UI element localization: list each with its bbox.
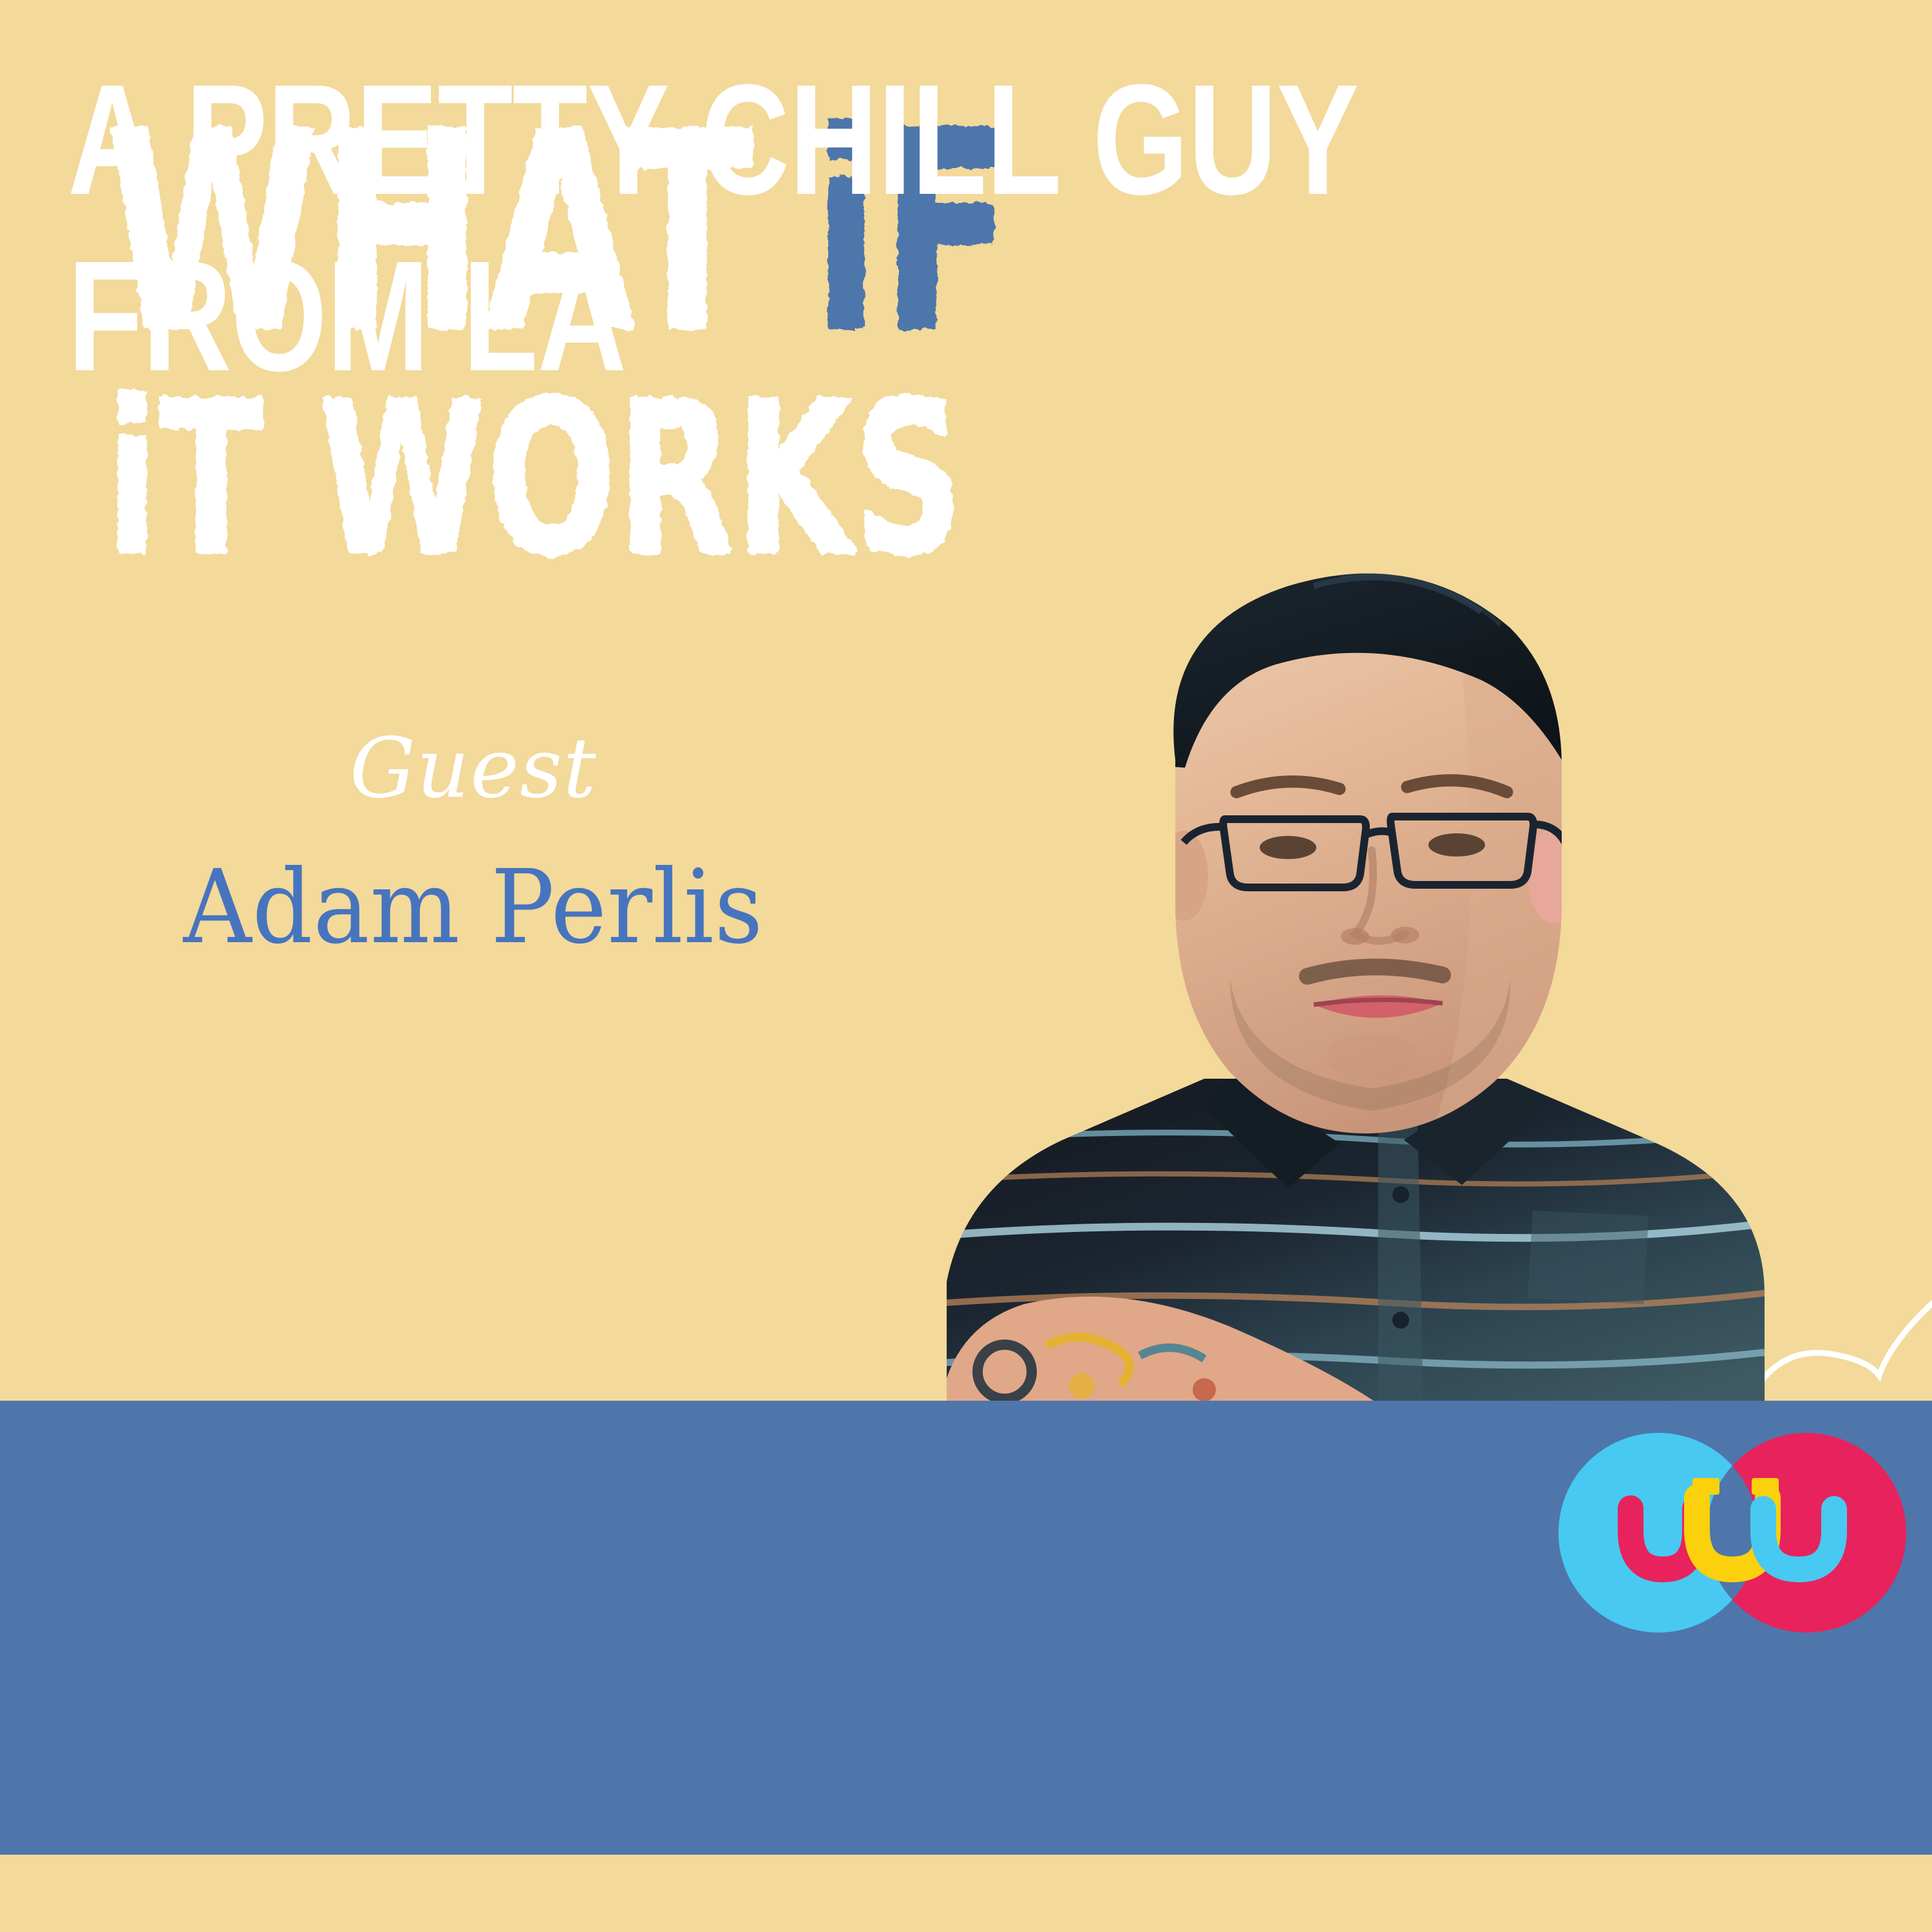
logo-eye-right [1752,1478,1779,1495]
guest-name: Adam Perlis [33,857,913,958]
guest-photo [927,489,1765,1404]
guest-block: Guest Adam Perlis [0,728,947,958]
show-logo[interactable] [1558,1433,1906,1633]
logo-eye-left [1692,1478,1719,1495]
wave-squiggle-icon [1739,1275,1932,1410]
show-title-line-2: iT WORKS [106,387,1265,574]
podcast-cover-art: WHATiF iT WORKS Guest Adam Perlis [0,0,1932,1932]
episode-title-line-1: A PRETTY CHILL GUY [68,62,1354,219]
episode-title-line-2: FROM LA [68,238,1354,395]
guest-label: Guest [0,728,947,810]
episode-title: A PRETTY CHILL GUY FROM LA [68,62,1529,379]
